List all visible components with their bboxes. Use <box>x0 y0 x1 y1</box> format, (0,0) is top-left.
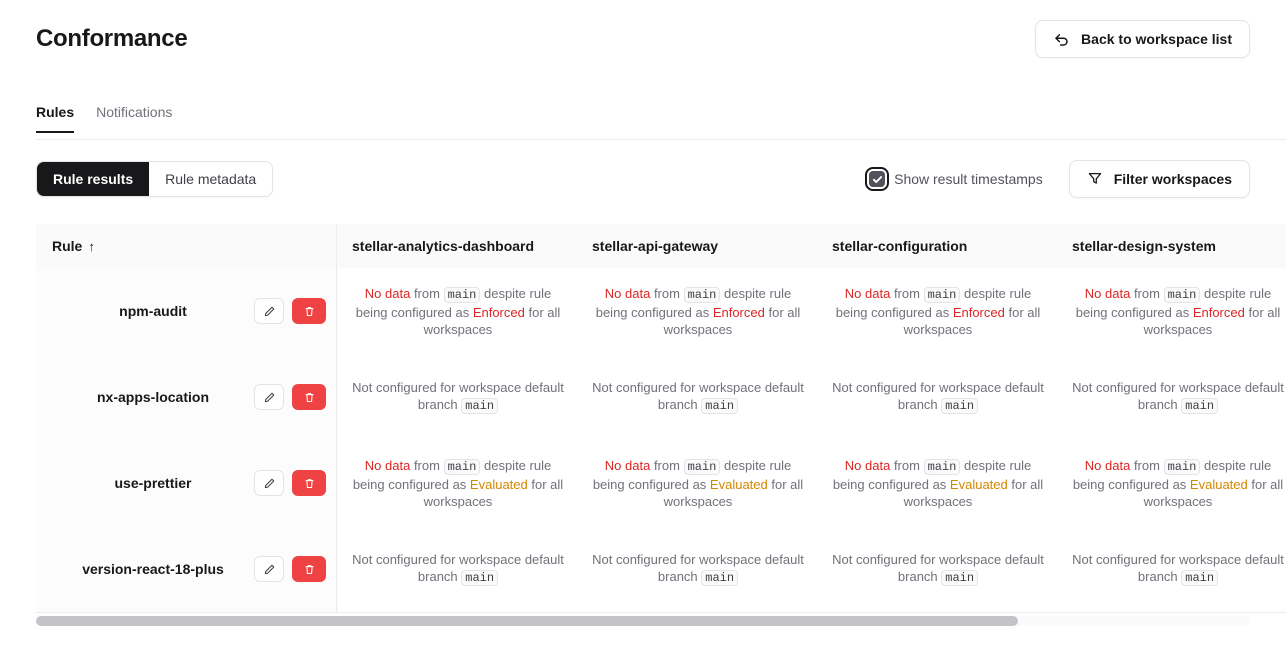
trash-icon <box>303 477 316 490</box>
arrow-uturn-left-icon <box>1053 31 1070 48</box>
rule-name: version-react-18-plus <box>52 561 254 578</box>
cell-message: No data from main despite rule being con… <box>352 457 564 510</box>
no-data-text: No data <box>365 458 411 473</box>
row-actions <box>254 470 326 496</box>
funnel-icon <box>1087 170 1103 189</box>
branch-name-code: main <box>941 570 978 586</box>
cell-message: Not configured for workspace default bra… <box>1072 379 1284 415</box>
tab-bar: Rules Notifications <box>36 104 1286 140</box>
sort-ascending-icon: ↑ <box>88 239 95 254</box>
table-bottom-border <box>36 612 1286 613</box>
result-cell: No data from main despite rule being con… <box>338 440 578 526</box>
rule-name: npm-audit <box>52 303 254 320</box>
result-cell: No data from main despite rule being con… <box>1058 268 1286 354</box>
rule-state-text: Evaluated <box>470 477 528 492</box>
cell-message: Not configured for workspace default bra… <box>832 551 1044 587</box>
result-cell: No data from main despite rule being con… <box>578 268 818 354</box>
edit-pencil-icon <box>263 305 276 318</box>
branch-name-code: main <box>684 287 721 303</box>
show-result-timestamps-label: Show result timestamps <box>894 171 1043 187</box>
edit-pencil-icon <box>263 563 276 576</box>
tab-bar-divider <box>36 139 1286 140</box>
column-header-rule-label: Rule <box>52 238 82 254</box>
rule-state-text: Enforced <box>713 305 765 320</box>
branch-name-code: main <box>924 459 961 475</box>
result-cell: No data from main despite rule being con… <box>818 268 1058 354</box>
result-cell: No data from main despite rule being con… <box>578 440 818 526</box>
cell-message: Not configured for workspace default bra… <box>592 551 804 587</box>
delete-rule-button[interactable] <box>292 298 326 324</box>
cell-message: Not configured for workspace default bra… <box>352 379 564 415</box>
rule-state-text: Evaluated <box>1190 477 1248 492</box>
branch-name-code: main <box>1181 570 1218 586</box>
rule-name: use-prettier <box>52 475 254 492</box>
segment-rule-metadata[interactable]: Rule metadata <box>149 162 272 196</box>
column-header-workspace[interactable]: stellar-design-system <box>1058 224 1286 268</box>
row-actions <box>254 556 326 582</box>
cell-message: Not configured for workspace default bra… <box>352 551 564 587</box>
rule-state-text: Evaluated <box>950 477 1008 492</box>
checkbox-checked-icon[interactable] <box>869 171 885 187</box>
result-cell: Not configured for workspace default bra… <box>1058 526 1286 612</box>
cell-message: No data from main despite rule being con… <box>832 457 1044 510</box>
controls-row: Rule results Rule metadata Show result t… <box>36 161 1250 197</box>
table-row: use-prettier <box>36 440 338 526</box>
cell-message: No data from main despite rule being con… <box>832 285 1044 338</box>
result-cell: Not configured for workspace default bra… <box>1058 354 1286 440</box>
result-cell: No data from main despite rule being con… <box>818 440 1058 526</box>
filter-workspaces-label: Filter workspaces <box>1114 171 1232 187</box>
no-data-text: No data <box>1085 458 1131 473</box>
result-cell: Not configured for workspace default bra… <box>338 526 578 612</box>
tab-rules[interactable]: Rules <box>36 104 74 133</box>
column-header-workspace[interactable]: stellar-configuration <box>818 224 1058 268</box>
cell-message: No data from main despite rule being con… <box>1072 457 1284 510</box>
column-header-workspace[interactable]: stellar-api-gateway <box>578 224 818 268</box>
page-title: Conformance <box>36 25 187 53</box>
rule-state-text: Enforced <box>953 305 1005 320</box>
back-to-workspace-list-button[interactable]: Back to workspace list <box>1035 20 1250 58</box>
row-actions <box>254 384 326 410</box>
no-data-text: No data <box>845 458 891 473</box>
controls-right-group: Show result timestamps Filter workspaces <box>869 160 1250 198</box>
view-segmented-control: Rule results Rule metadata <box>36 161 273 197</box>
edit-pencil-icon <box>263 391 276 404</box>
back-to-workspace-list-label: Back to workspace list <box>1081 31 1232 47</box>
edit-pencil-icon <box>263 477 276 490</box>
rule-state-text: Enforced <box>473 305 525 320</box>
branch-name-code: main <box>684 459 721 475</box>
result-cell: Not configured for workspace default bra… <box>818 526 1058 612</box>
no-data-text: No data <box>1085 286 1131 301</box>
branch-name-code: main <box>1164 459 1201 475</box>
no-data-text: No data <box>365 286 411 301</box>
result-cell: Not configured for workspace default bra… <box>338 354 578 440</box>
no-data-text: No data <box>845 286 891 301</box>
branch-name-code: main <box>701 398 738 414</box>
horizontal-scrollbar-thumb[interactable] <box>36 616 1018 626</box>
result-cell: No data from main despite rule being con… <box>338 268 578 354</box>
branch-name-code: main <box>701 570 738 586</box>
branch-name-code: main <box>461 398 498 414</box>
column-header-rule[interactable]: Rule↑ <box>36 224 338 268</box>
conformance-table[interactable]: Rule↑stellar-analytics-dashboardstellar-… <box>36 224 1286 612</box>
cell-message: Not configured for workspace default bra… <box>832 379 1044 415</box>
delete-rule-button[interactable] <box>292 470 326 496</box>
cell-message: No data from main despite rule being con… <box>592 285 804 338</box>
edit-rule-button[interactable] <box>254 384 284 410</box>
edit-rule-button[interactable] <box>254 298 284 324</box>
branch-name-code: main <box>941 398 978 414</box>
edit-rule-button[interactable] <box>254 470 284 496</box>
branch-name-code: main <box>444 459 481 475</box>
page-header: Conformance Back to workspace list <box>0 0 1286 78</box>
branch-name-code: main <box>461 570 498 586</box>
edit-rule-button[interactable] <box>254 556 284 582</box>
column-header-workspace[interactable]: stellar-analytics-dashboard <box>338 224 578 268</box>
tab-notifications[interactable]: Notifications <box>96 104 172 133</box>
branch-name-code: main <box>1181 398 1218 414</box>
trash-icon <box>303 563 316 576</box>
table-row: nx-apps-location <box>36 354 338 440</box>
cell-message: No data from main despite rule being con… <box>352 285 564 338</box>
rule-state-text: Enforced <box>1193 305 1245 320</box>
table-row: npm-audit <box>36 268 338 354</box>
cell-message: No data from main despite rule being con… <box>1072 285 1284 338</box>
cell-message: Not configured for workspace default bra… <box>592 379 804 415</box>
delete-rule-button[interactable] <box>292 384 326 410</box>
branch-name-code: main <box>924 287 961 303</box>
branch-name-code: main <box>1164 287 1201 303</box>
branch-name-code: main <box>444 287 481 303</box>
row-actions <box>254 298 326 324</box>
table-row: version-react-18-plus <box>36 526 338 612</box>
trash-icon <box>303 391 316 404</box>
no-data-text: No data <box>605 458 651 473</box>
result-cell: Not configured for workspace default bra… <box>578 354 818 440</box>
rule-name: nx-apps-location <box>52 389 254 406</box>
delete-rule-button[interactable] <box>292 556 326 582</box>
trash-icon <box>303 305 316 318</box>
cell-message: Not configured for workspace default bra… <box>1072 551 1284 587</box>
table-grid: Rule↑stellar-analytics-dashboardstellar-… <box>36 224 1286 612</box>
show-result-timestamps-toggle[interactable]: Show result timestamps <box>869 171 1043 187</box>
cell-message: No data from main despite rule being con… <box>592 457 804 510</box>
no-data-text: No data <box>605 286 651 301</box>
filter-workspaces-button[interactable]: Filter workspaces <box>1069 160 1250 198</box>
result-cell: No data from main despite rule being con… <box>1058 440 1286 526</box>
result-cell: Not configured for workspace default bra… <box>818 354 1058 440</box>
rule-state-text: Evaluated <box>710 477 768 492</box>
segment-rule-results[interactable]: Rule results <box>37 162 149 196</box>
result-cell: Not configured for workspace default bra… <box>578 526 818 612</box>
